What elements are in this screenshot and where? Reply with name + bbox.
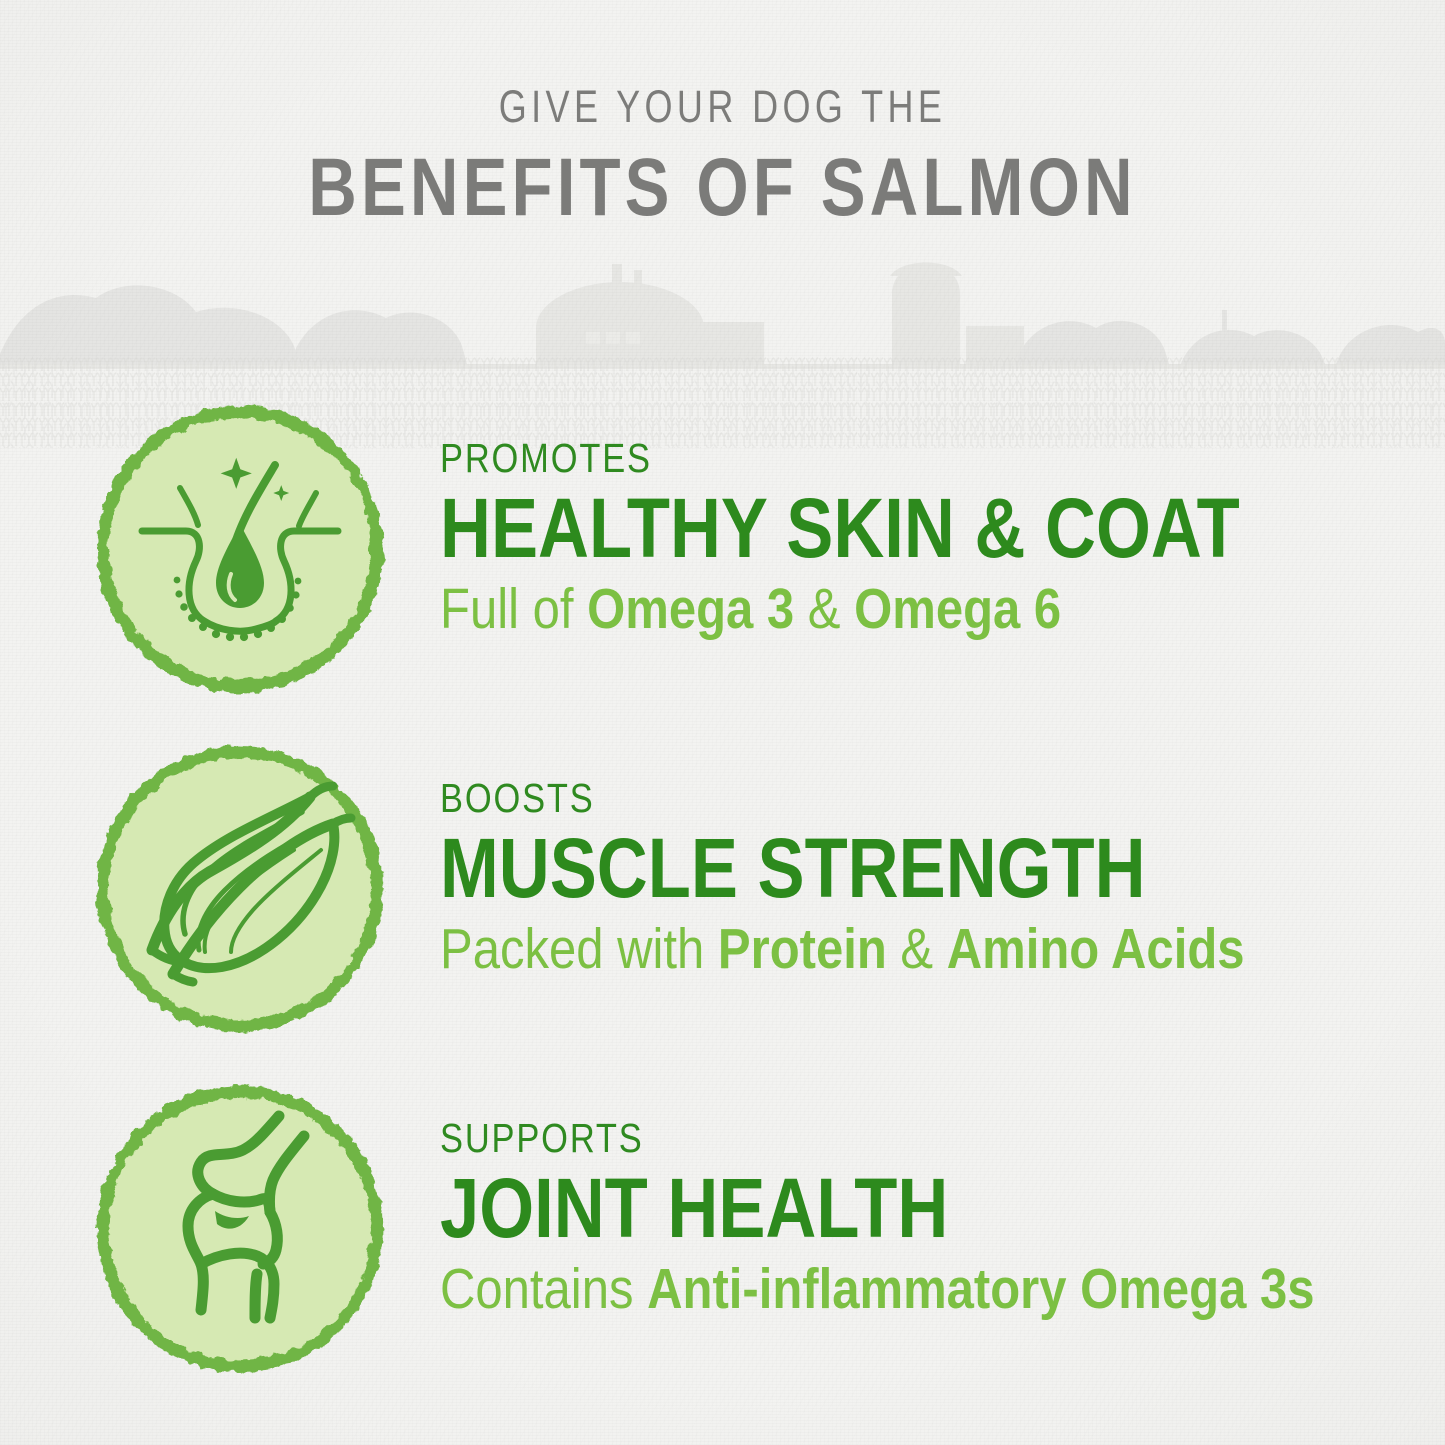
benefit-kicker: BOOSTS bbox=[440, 778, 1264, 819]
page-title: BENEFITS OF SALMON bbox=[130, 147, 1315, 229]
benefits-list: PROMOTES HEALTHY SKIN & COAT Full of Ome… bbox=[0, 398, 1445, 1418]
benefit-kicker: SUPPORTS bbox=[440, 1118, 1264, 1159]
benefit-badge bbox=[89, 1078, 391, 1380]
benefit-subline: Packed with Protein & Amino Acids bbox=[440, 920, 1284, 980]
benefit-badge bbox=[89, 398, 391, 700]
benefit-headline: MUSCLE STRENGTH bbox=[440, 826, 1264, 912]
benefit-kicker: PROMOTES bbox=[440, 438, 1264, 479]
benefit-subline: Full of Omega 3 & Omega 6 bbox=[440, 580, 1284, 640]
benefit-copy: SUPPORTS JOINT HEALTH Contains Anti-infl… bbox=[440, 1118, 1421, 1320]
benefit-copy: PROMOTES HEALTHY SKIN & COAT Full of Ome… bbox=[440, 438, 1421, 640]
benefit-copy: BOOSTS MUSCLE STRENGTH Packed with Prote… bbox=[440, 778, 1421, 980]
poster-canvas: GIVE YOUR DOG THE BENEFITS OF SALMON bbox=[0, 0, 1445, 1445]
header-block: GIVE YOUR DOG THE BENEFITS OF SALMON bbox=[0, 84, 1445, 229]
benefit-headline: JOINT HEALTH bbox=[440, 1166, 1264, 1252]
knee-joint-bone-icon bbox=[89, 1078, 391, 1380]
benefit-badge bbox=[89, 738, 391, 1040]
header-eyebrow: GIVE YOUR DOG THE bbox=[145, 84, 1301, 129]
benefit-subline: Contains Anti-inflammatory Omega 3s bbox=[440, 1260, 1284, 1320]
muscle-fiber-icon bbox=[89, 738, 391, 1040]
benefit-item: SUPPORTS JOINT HEALTH Contains Anti-infl… bbox=[0, 1078, 1445, 1418]
benefit-item: BOOSTS MUSCLE STRENGTH Packed with Prote… bbox=[0, 738, 1445, 1078]
benefit-headline: HEALTHY SKIN & COAT bbox=[440, 486, 1264, 572]
benefit-item: PROMOTES HEALTHY SKIN & COAT Full of Ome… bbox=[0, 398, 1445, 738]
hair-follicle-skin-icon bbox=[89, 398, 391, 700]
